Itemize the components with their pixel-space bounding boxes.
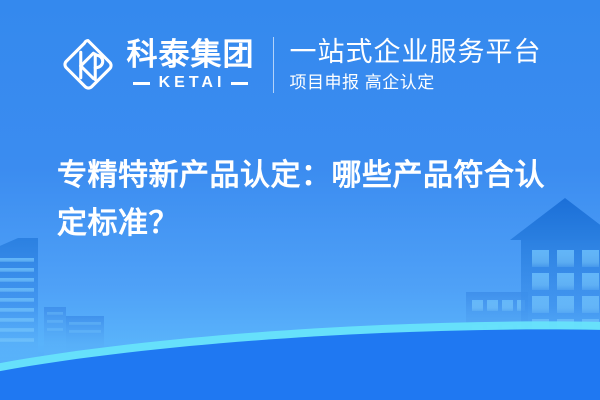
ketai-logo-icon [59, 36, 117, 94]
tagline-sub: 项目申报 高企认定 [290, 74, 542, 93]
tagline-main: 一站式企业服务平台 [290, 38, 542, 67]
header-tagline: 一站式企业服务平台 项目申报 高企认定 [290, 38, 542, 93]
logo-rule-left [133, 82, 150, 85]
page-title: 专精特新产品认定：哪些产品符合认定标准？ [57, 152, 557, 248]
logo-rule-right [231, 82, 248, 85]
building-left-skyscraper [0, 238, 38, 360]
header-divider [273, 37, 274, 93]
promo-banner: 科泰集团 KETAI 一站式企业服务平台 项目申报 高企认定 专精特新产品认定：… [0, 0, 600, 400]
logo-wordmark: 科泰集团 KETAI [127, 39, 255, 91]
logo-company-en: KETAI [150, 75, 232, 91]
logo-en-row: KETAI [127, 75, 255, 91]
curved-horizon [0, 321, 600, 400]
banner-header: 科泰集团 KETAI 一站式企业服务平台 项目申报 高企认定 [0, 0, 600, 130]
logo-company-cn: 科泰集团 [127, 39, 255, 70]
building-mid-wide-block [466, 292, 528, 358]
building-left-low-block [44, 307, 104, 359]
